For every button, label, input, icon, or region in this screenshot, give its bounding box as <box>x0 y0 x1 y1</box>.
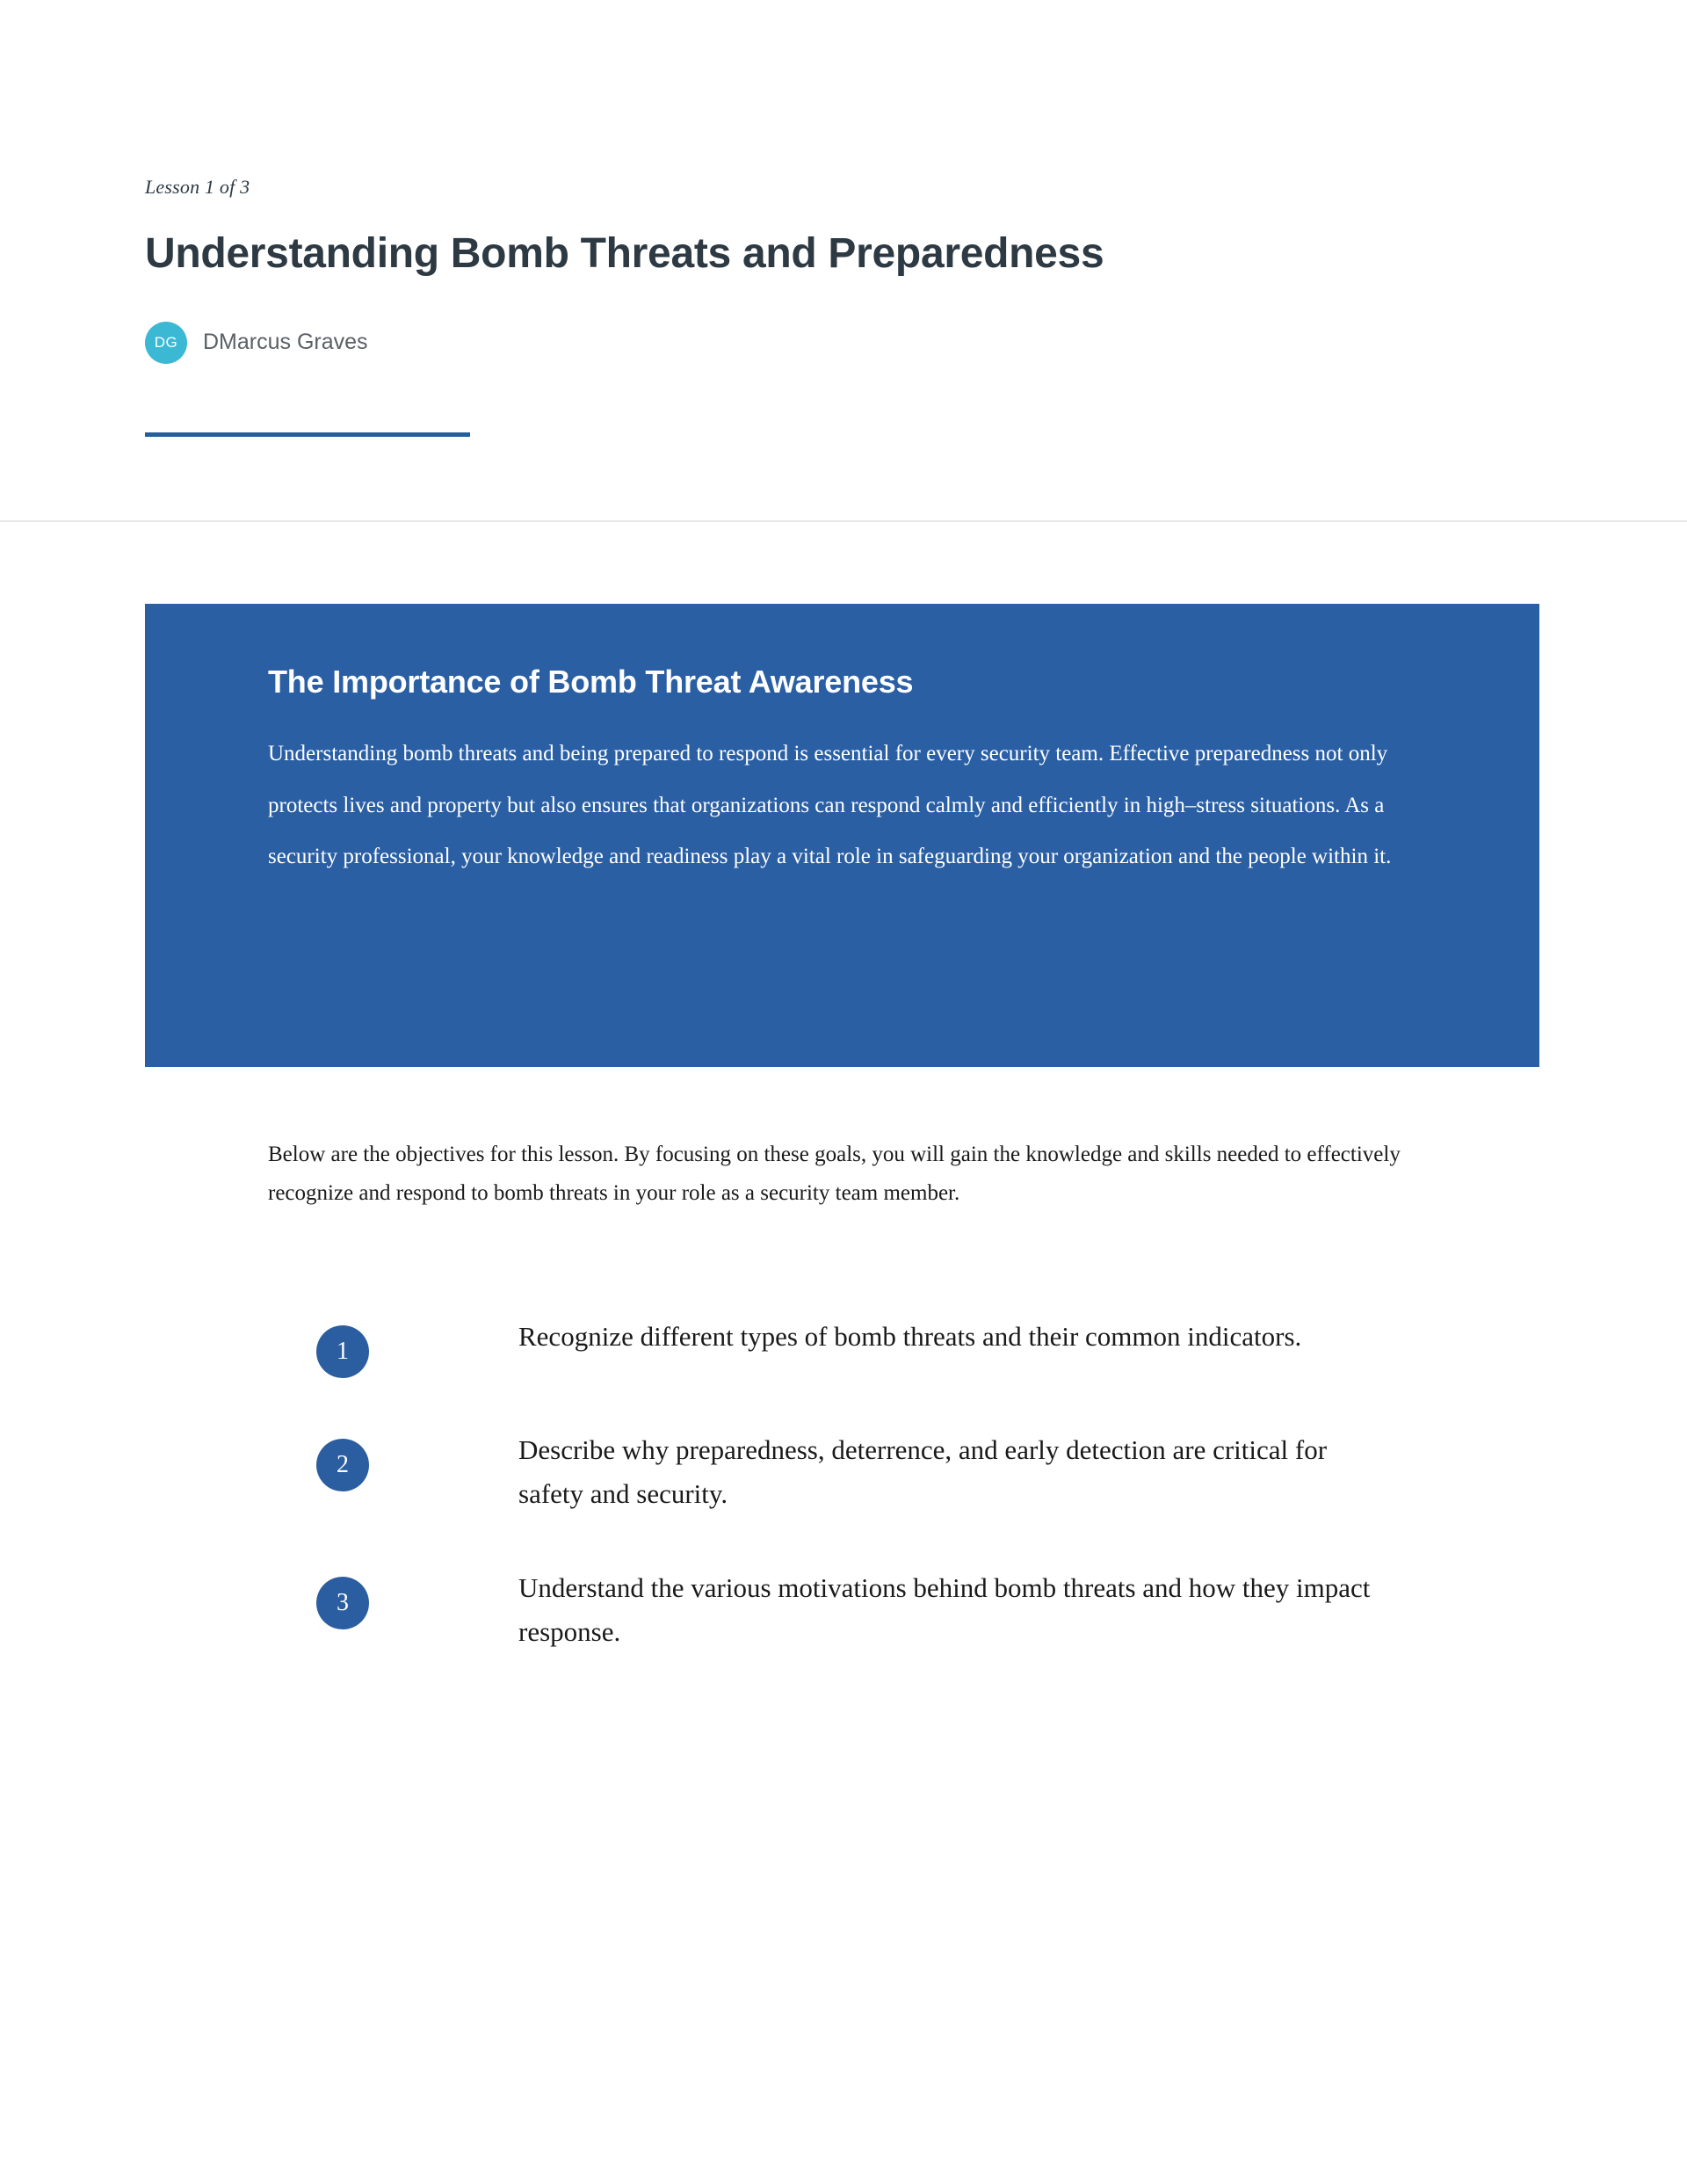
objectives-list: 1 Recognize different types of bomb thre… <box>0 1315 1687 1655</box>
callout-title: The Importance of Bomb Threat Awareness <box>268 664 1416 700</box>
list-item: 3 Understand the various motivations beh… <box>316 1566 1687 1654</box>
objective-number-badge: 3 <box>316 1577 369 1629</box>
objective-number-badge: 2 <box>316 1439 369 1491</box>
page-title: Understanding Bomb Threats and Preparedn… <box>145 230 1687 278</box>
accent-rule <box>145 432 470 437</box>
section-divider <box>0 520 1687 522</box>
objective-number-badge: 1 <box>316 1325 369 1378</box>
importance-callout-card: The Importance of Bomb Threat Awareness … <box>145 604 1539 1067</box>
lesson-header: Lesson 1 of 3 Understanding Bomb Threats… <box>0 0 1687 437</box>
lesson-counter: Lesson 1 of 3 <box>145 176 1687 199</box>
objective-text: Understand the various motivations behin… <box>518 1566 1397 1654</box>
author-byline: DG DMarcus Graves <box>145 322 1687 364</box>
avatar: DG <box>145 322 187 364</box>
list-item: 2 Describe why preparedness, deterrence,… <box>316 1428 1687 1516</box>
objectives-intro-paragraph: Below are the objectives for this lesson… <box>268 1136 1410 1214</box>
callout-body: Understanding bomb threats and being pre… <box>268 729 1416 883</box>
author-name: DMarcus Graves <box>203 330 368 355</box>
objective-text: Describe why preparedness, deterrence, a… <box>518 1428 1397 1516</box>
objective-text: Recognize different types of bomb threat… <box>518 1315 1397 1359</box>
list-item: 1 Recognize different types of bomb thre… <box>316 1315 1687 1378</box>
